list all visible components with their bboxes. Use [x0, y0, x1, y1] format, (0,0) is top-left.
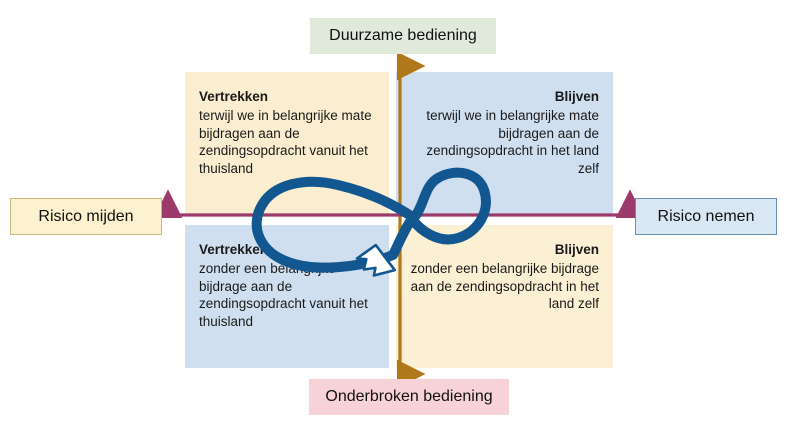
axis-label-top-text: Duurzame bediening: [329, 27, 477, 45]
quadrant-top-right: Blijven terwijl we in belangrijke mate b…: [396, 72, 613, 215]
quadrant-bottom-right-title: Blijven: [410, 241, 599, 259]
axis-label-bottom: Onderbroken bediening: [309, 379, 509, 415]
quadrant-bottom-left-body: zonder een belangrijke bijdrage aan de z…: [199, 260, 375, 331]
axis-label-right: Risico nemen: [635, 198, 777, 235]
diagram-canvas: Vertrekken terwijl we in belangrijke mat…: [0, 0, 789, 441]
axis-label-bottom-text: Onderbroken bediening: [325, 388, 492, 406]
axis-label-left-text: Risico mijden: [38, 208, 133, 226]
quadrant-bottom-right-body: zonder een belangrijke bijdrage aan de z…: [410, 260, 599, 313]
quadrant-top-right-body: terwijl we in belangrijke mate bijdragen…: [410, 107, 599, 178]
axis-label-top: Duurzame bediening: [310, 18, 496, 54]
axis-label-right-text: Risico nemen: [658, 208, 755, 226]
quadrant-top-right-title: Blijven: [410, 88, 599, 106]
quadrant-top-left-title: Vertrekken: [199, 88, 375, 106]
quadrant-bottom-left-title: Vertrekken: [199, 241, 375, 259]
quadrant-bottom-right: Blijven zonder een belangrijke bijdrage …: [396, 225, 613, 368]
quadrant-top-left: Vertrekken terwijl we in belangrijke mat…: [185, 72, 389, 215]
quadrant-bottom-left: Vertrekken zonder een belangrijke bijdra…: [185, 225, 389, 368]
quadrant-top-left-body: terwijl we in belangrijke mate bijdragen…: [199, 107, 375, 178]
axis-label-left: Risico mijden: [10, 198, 162, 235]
